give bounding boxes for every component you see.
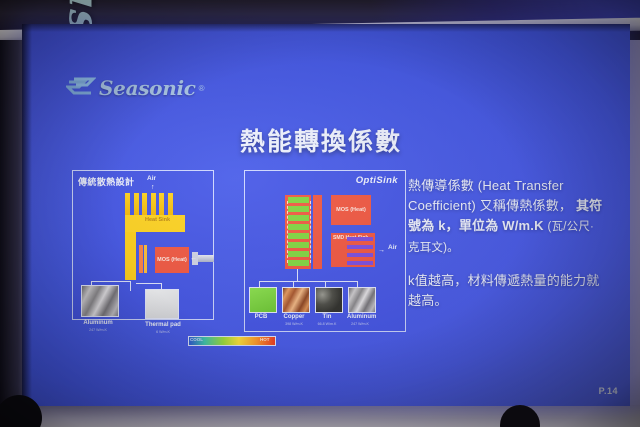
left-material-value-1: 6 W/m.K (139, 330, 187, 334)
seasonic-ss-mark-icon (66, 77, 96, 99)
connector-line (259, 281, 357, 282)
smd-heat-sink-block: SMD Heat Sink (331, 233, 375, 267)
left-material-name-1: Thermal pad (139, 322, 187, 328)
swatch-copper (282, 287, 310, 313)
right-material-value-3: 247 W/m.K (347, 322, 373, 326)
right-material-name-0: PCB (248, 314, 274, 320)
mos-heat-block: MOS (Heat) (155, 247, 189, 273)
left-material-value-0: 247 W/m.K (78, 328, 118, 332)
mos-heat-block: MOS (Heat) (331, 195, 371, 225)
wall-lower-band (0, 405, 640, 427)
fin (125, 193, 130, 215)
swatch-thermal-pad (145, 289, 179, 319)
connector-line (297, 269, 298, 281)
right-material-name-2: Tin (314, 314, 340, 320)
screen-top-edge (22, 24, 630, 32)
slide-body-text: 熱傳導係數 (Heat Transfer Coefficient) 又稱傳熱係數… (408, 176, 604, 324)
connector-line (136, 283, 161, 284)
connector-line (91, 281, 131, 282)
optisink-design-panel: OptiSink MOS (Heat) SMD Heat Sink (244, 170, 406, 332)
probe-body (197, 255, 214, 262)
right-material-name-3: Aluminum (347, 314, 373, 320)
page-number: P.14 (599, 386, 618, 396)
right-material-value-1: 398 W/m.K (281, 322, 307, 326)
probe-arrow-icon: ← (190, 255, 197, 262)
smd-fin (347, 237, 373, 241)
heatsink-stem (125, 232, 136, 280)
right-material-name-1: Copper (281, 314, 307, 320)
right-material-value-2: 66.8 W/m.K (314, 322, 340, 326)
thermal-interface-bar (144, 245, 147, 273)
smd-fin (347, 253, 373, 257)
registered-mark: ® (199, 84, 205, 93)
right-panel-title: OptiSink (356, 175, 398, 186)
connector-line (130, 281, 131, 291)
traditional-design-panel: 傳統散熱設計 Air ↑ Heat Sink MOS (Heat) (72, 170, 214, 320)
swatch-pcb (249, 287, 277, 313)
fin (151, 193, 156, 215)
body-line-1a: 熱傳導係數 (Heat Transfer Coefficient) 又稱傳熱係數… (408, 178, 572, 213)
photo-of-projected-slide: OptiSink Design Seasonic ® 熱能轉換係數 傳統散熱設計 (0, 0, 640, 427)
swatch-aluminum (81, 285, 119, 317)
body-paragraph-1: 熱傳導係數 (Heat Transfer Coefficient) 又稱傳熱係數… (408, 176, 604, 258)
seasonic-wordmark: Seasonic (99, 76, 196, 100)
right-air-arrow-icon: → (378, 247, 385, 254)
right-air-label: Air (388, 244, 397, 251)
fin (168, 193, 173, 215)
legend-hot-label: HOT (260, 337, 270, 342)
seasonic-logo: Seasonic ® (66, 76, 205, 100)
fin (159, 193, 164, 215)
heatsink-fins (125, 193, 185, 215)
slide-title: 熱能轉換係數 (240, 122, 402, 158)
fin (142, 193, 147, 215)
smd-fin (347, 261, 373, 265)
left-air-arrow-icon: ↑ (151, 184, 155, 191)
copper-column (313, 195, 322, 269)
swatch-aluminum (348, 287, 376, 313)
projection-screen: Seasonic ® 熱能轉換係數 傳統散熱設計 Air ↑ (22, 24, 630, 406)
swatch-tin (315, 287, 343, 313)
thermal-vias (287, 201, 311, 263)
smd-fin (347, 245, 373, 249)
screen-left-edge (22, 24, 32, 406)
left-material-name-0: Aluminum (78, 320, 118, 326)
thermal-pad-bar (139, 245, 143, 273)
slide-content: Seasonic ® 熱能轉換係數 傳統散熱設計 Air ↑ (22, 24, 630, 406)
body-paragraph-2: k值越高，材料傳遞熱量的能力就越高。 (408, 271, 604, 311)
legend-cool-label: COOL (190, 337, 203, 342)
fin (134, 193, 139, 215)
left-panel-title: 傳統散熱設計 (78, 175, 134, 188)
left-air-label: Air (147, 175, 156, 182)
heatsink-label: Heat Sink (145, 218, 170, 224)
